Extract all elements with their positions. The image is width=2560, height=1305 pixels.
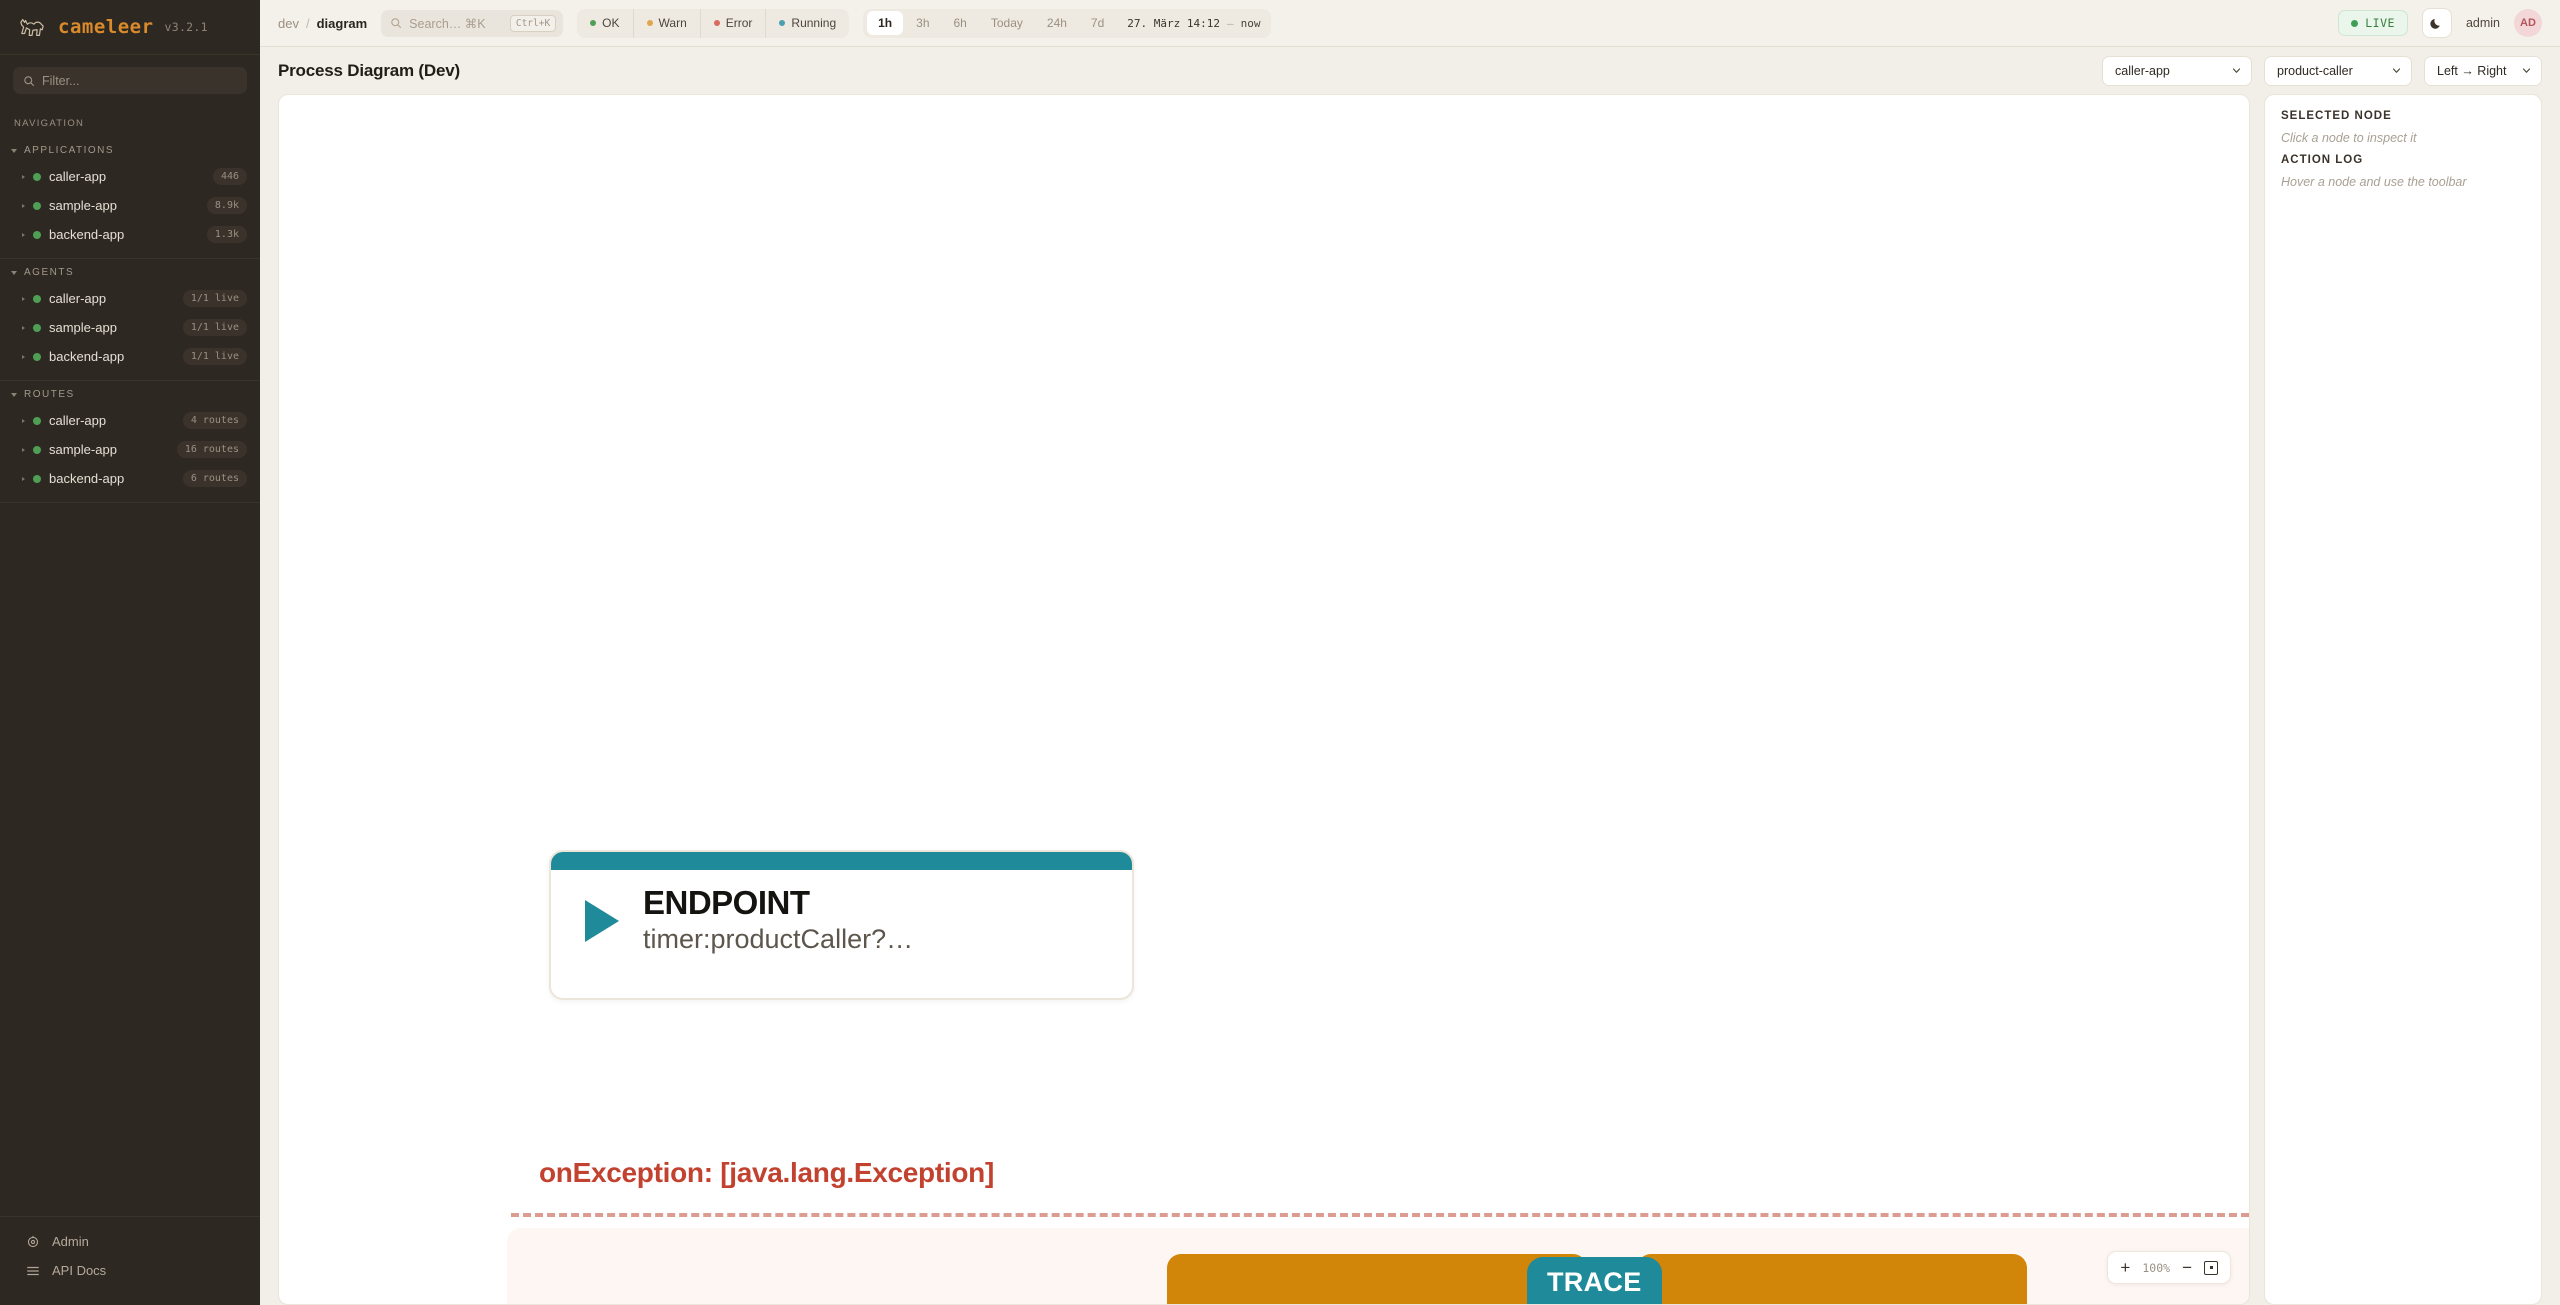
status-pill-label: OK: [602, 16, 619, 30]
status-dot: [33, 295, 41, 303]
sidebar-group-title: APPLICATIONS: [24, 145, 114, 156]
zoom-out-button[interactable]: −: [2182, 1259, 2192, 1276]
brand[interactable]: cameleer v3.2.1: [0, 0, 260, 55]
time-range-button-24h[interactable]: 24h: [1036, 11, 1078, 36]
breadcrumb: dev / diagram: [278, 16, 367, 31]
time-range-button-7d[interactable]: 7d: [1080, 11, 1115, 36]
chevron-right-icon: [22, 448, 25, 452]
main-area: dev / diagram Search… ⌘K Ctrl+K OKWarnEr…: [260, 0, 2560, 1305]
brand-name: cameleer: [58, 16, 154, 38]
exception-group-divider: [511, 1213, 2249, 1217]
sidebar-group-header-applications[interactable]: APPLICATIONS: [0, 137, 260, 162]
sidebar-item-label: caller-app: [49, 169, 205, 184]
chevron-down-icon: [11, 271, 17, 275]
chevron-right-icon: [22, 233, 25, 237]
status-filter-group: OKWarnErrorRunning: [577, 9, 849, 38]
diagram-node-orange-1[interactable]: [1167, 1254, 1587, 1305]
sidebar-item-routes-caller-app[interactable]: caller-app4 routes: [0, 406, 260, 435]
sidebar-item-badge: 1/1 live: [183, 348, 247, 365]
time-range-dash: —: [1222, 17, 1239, 30]
breadcrumb-current[interactable]: diagram: [317, 16, 368, 31]
sidebar-item-badge: 8.9k: [207, 197, 247, 214]
sidebar-item-badge: 1/1 live: [183, 290, 247, 307]
time-range-button-6h[interactable]: 6h: [943, 11, 978, 36]
sidebar-group-title: AGENTS: [24, 267, 74, 278]
inspector-panel: SELECTED NODE Click a node to inspect it…: [2264, 94, 2542, 1305]
chevron-down-icon: [11, 149, 17, 153]
search-placeholder: Search… ⌘K: [409, 16, 503, 31]
zoom-level: 100%: [2142, 1261, 2170, 1275]
sidebar-item-badge: 446: [213, 168, 247, 185]
theme-toggle-button[interactable]: [2422, 8, 2452, 38]
play-icon: [585, 900, 619, 942]
sidebar-filter-wrap: [0, 55, 260, 108]
exception-group-region: TRACE: [507, 1228, 2250, 1305]
topbar: dev / diagram Search… ⌘K Ctrl+K OKWarnEr…: [260, 0, 2560, 47]
status-dot: [33, 353, 41, 361]
sidebar-item-label: backend-app: [49, 349, 175, 364]
sidebar-item-badge: 6 routes: [183, 470, 247, 487]
status-pill-warn[interactable]: Warn: [634, 9, 701, 38]
live-label: LIVE: [2365, 16, 2395, 30]
direction-select-value: Left → Right: [2437, 64, 2506, 78]
sidebar-item-label: sample-app: [49, 198, 199, 213]
menu-icon: [26, 1264, 40, 1278]
time-range-from: 27. März 14:12: [1117, 17, 1220, 30]
time-range-to: now: [1241, 17, 1267, 30]
direction-select[interactable]: Left → Right: [2424, 56, 2542, 86]
status-pill-label: Error: [726, 16, 753, 30]
sidebar-item-routes-sample-app[interactable]: sample-app16 routes: [0, 435, 260, 464]
status-dot: [33, 173, 41, 181]
breadcrumb-sep: /: [306, 16, 310, 31]
status-dot: [590, 20, 596, 26]
status-pill-ok[interactable]: OK: [577, 9, 633, 38]
search-icon: [390, 17, 402, 29]
sidebar-group-routes: ROUTEScaller-app4 routessample-app16 rou…: [0, 381, 260, 503]
brand-version: v3.2.1: [165, 20, 208, 34]
sidebar-item-badge: 16 routes: [177, 441, 247, 458]
status-dot: [779, 20, 785, 26]
sidebar-item-admin[interactable]: Admin: [0, 1227, 260, 1256]
sidebar-item-admin-label: Admin: [52, 1234, 89, 1249]
application-select[interactable]: caller-app: [2102, 56, 2252, 86]
page-title: Process Diagram (Dev): [278, 61, 460, 81]
sidebar-item-routes-backend-app[interactable]: backend-app6 routes: [0, 464, 260, 493]
sidebar-spacer: [0, 503, 260, 1216]
status-dot: [33, 231, 41, 239]
sidebar-item-badge: 1/1 live: [183, 319, 247, 336]
sidebar-footer: Admin API Docs: [0, 1216, 260, 1305]
status-pill-running[interactable]: Running: [766, 9, 849, 38]
chevron-down-icon: [2522, 66, 2531, 75]
search-input[interactable]: Search… ⌘K Ctrl+K: [381, 10, 563, 37]
sidebar-item-label: sample-app: [49, 442, 169, 457]
status-dot: [33, 202, 41, 210]
sidebar-filter-input[interactable]: [42, 74, 237, 88]
status-pill-label: Warn: [659, 16, 687, 30]
moon-icon: [2429, 16, 2444, 31]
status-dot: [33, 417, 41, 425]
sidebar-item-label: caller-app: [49, 413, 175, 428]
chevron-right-icon: [22, 326, 25, 330]
sidebar-groups: APPLICATIONScaller-app446sample-app8.9kb…: [0, 137, 260, 503]
action-log-title: ACTION LOG: [2281, 154, 2525, 166]
action-log-hint: Hover a node and use the toolbar: [2281, 175, 2525, 189]
chevron-right-icon: [22, 204, 25, 208]
diagram-node-orange-2[interactable]: [1637, 1254, 2027, 1305]
time-range-button-3h[interactable]: 3h: [905, 11, 940, 36]
sidebar-item-applications-sample-app[interactable]: sample-app8.9k: [0, 191, 260, 220]
sidebar-group-header-routes[interactable]: ROUTES: [0, 381, 260, 406]
sidebar-filter[interactable]: [13, 67, 247, 94]
sidebar-group-applications: APPLICATIONScaller-app446sample-app8.9kb…: [0, 137, 260, 259]
sidebar-item-applications-backend-app[interactable]: backend-app1.3k: [0, 220, 260, 249]
diagram-node-endpoint[interactable]: ENDPOINT timer:productCaller?…: [549, 850, 1134, 1000]
selected-node-hint: Click a node to inspect it: [2281, 131, 2525, 145]
sidebar-item-badge: 4 routes: [183, 412, 247, 429]
sidebar-nav-label: NAVIGATION: [0, 108, 260, 137]
avatar[interactable]: AD: [2514, 9, 2542, 37]
sidebar-item-agents-backend-app[interactable]: backend-app1/1 live: [0, 342, 260, 371]
chevron-right-icon: [22, 175, 25, 179]
status-dot: [714, 20, 720, 26]
selected-node-title: SELECTED NODE: [2281, 110, 2525, 122]
status-dot: [647, 20, 653, 26]
exception-group-label: onException: [java.lang.Exception]: [539, 1157, 994, 1189]
sidebar-group-agents: AGENTScaller-app1/1 livesample-app1/1 li…: [0, 259, 260, 381]
chevron-right-icon: [22, 297, 25, 301]
chevron-down-icon: [2232, 66, 2241, 75]
live-toggle[interactable]: LIVE: [2338, 10, 2408, 36]
search-shortcut-kbd: Ctrl+K: [510, 15, 556, 32]
application-select-value: caller-app: [2115, 64, 2170, 78]
time-range-button-today[interactable]: Today: [980, 11, 1034, 36]
content-row: ENDPOINT timer:productCaller?… onExcepti…: [260, 94, 2560, 1305]
route-select-value: product-caller: [2277, 64, 2353, 78]
time-range-button-1h[interactable]: 1h: [867, 11, 903, 36]
live-indicator-dot: [2351, 20, 2358, 27]
zoom-in-button[interactable]: +: [2120, 1259, 2130, 1276]
sidebar-item-label: backend-app: [49, 471, 175, 486]
sidebar-item-label: sample-app: [49, 320, 175, 335]
sidebar-item-label: caller-app: [49, 291, 175, 306]
sidebar-item-agents-caller-app[interactable]: caller-app1/1 live: [0, 284, 260, 313]
sidebar-group-title: ROUTES: [24, 389, 75, 400]
camel-icon: [17, 14, 47, 40]
time-range-group: 1h3h6hToday24h7d 27. März 14:12 — now: [863, 9, 1270, 38]
node-uri-label: timer:productCaller?…: [643, 923, 913, 955]
sidebar-group-header-agents[interactable]: AGENTS: [0, 259, 260, 284]
chevron-down-icon: [11, 393, 17, 397]
status-dot: [33, 475, 41, 483]
sidebar-item-agents-sample-app[interactable]: sample-app1/1 live: [0, 313, 260, 342]
status-pill-label: Running: [791, 16, 836, 30]
sidebar-item-applications-caller-app[interactable]: caller-app446: [0, 162, 260, 191]
sidebar-item-api-docs-label: API Docs: [52, 1263, 106, 1278]
search-icon: [23, 75, 35, 87]
sidebar-item-api-docs[interactable]: API Docs: [0, 1256, 260, 1285]
chevron-right-icon: [22, 477, 25, 481]
status-dot: [33, 324, 41, 332]
trace-badge: TRACE: [1527, 1257, 1662, 1305]
sidebar-item-badge: 1.3k: [207, 226, 247, 243]
chevron-right-icon: [22, 355, 25, 359]
breadcrumb-root[interactable]: dev: [278, 16, 299, 31]
node-header-bar: [551, 852, 1132, 870]
status-pill-error[interactable]: Error: [701, 9, 767, 38]
status-dot: [33, 446, 41, 454]
sidebar-item-label: backend-app: [49, 227, 199, 242]
gear-icon: [26, 1235, 40, 1249]
node-body: ENDPOINT timer:productCaller?…: [551, 870, 1132, 955]
fit-to-screen-icon[interactable]: [2204, 1261, 2218, 1275]
page-header: Process Diagram (Dev) caller-app product…: [260, 47, 2560, 94]
diagram-canvas[interactable]: ENDPOINT timer:productCaller?… onExcepti…: [278, 94, 2250, 1305]
chevron-right-icon: [22, 419, 25, 423]
user-name: admin: [2466, 16, 2500, 30]
node-kind-label: ENDPOINT: [643, 886, 913, 921]
sidebar: cameleer v3.2.1 NAVIGATION APPLICATIONSc…: [0, 0, 260, 1305]
chevron-down-icon: [2392, 66, 2401, 75]
zoom-controls: + 100% −: [2107, 1251, 2231, 1284]
route-select[interactable]: product-caller: [2264, 56, 2412, 86]
